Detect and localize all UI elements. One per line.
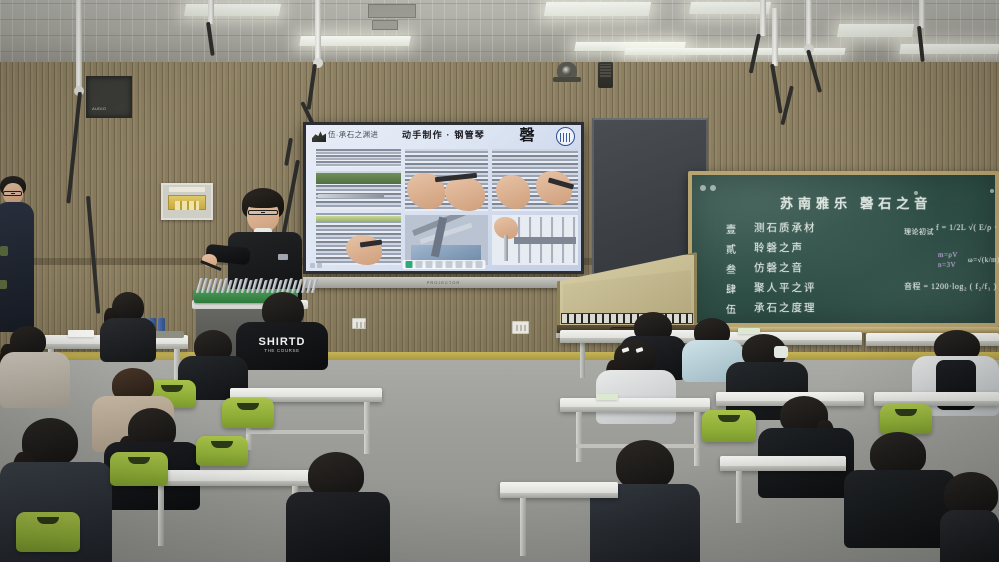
board-item: 聚人平之评 xyxy=(754,280,817,295)
board-item: 测石质承材 xyxy=(754,220,817,235)
panel-top-cap xyxy=(169,187,205,192)
desk xyxy=(500,482,618,498)
air-vent xyxy=(368,4,416,18)
photo-pipe-cutting-hands xyxy=(405,149,488,211)
desk xyxy=(720,456,846,471)
pipe-chime-bars xyxy=(198,277,316,293)
worksheet[interactable] xyxy=(596,394,618,400)
observer-coat xyxy=(0,202,34,332)
desk-leg xyxy=(736,471,742,523)
student-hair xyxy=(616,440,674,490)
board-clip xyxy=(700,185,706,191)
board-item: 聆磬之声 xyxy=(754,240,804,255)
air-vent xyxy=(372,20,398,30)
ptz-camera xyxy=(557,62,585,84)
board-item: 仿磬之音 xyxy=(754,260,804,275)
more-icon[interactable] xyxy=(475,261,482,268)
chair[interactable] xyxy=(702,410,756,442)
board-item: 承石之度理 xyxy=(754,300,817,315)
desk-rail xyxy=(246,430,368,434)
photo-pipe-ruler-marking xyxy=(316,213,401,265)
board-formula-bottom: 音程 = 1200·log₂ ( f₂/f₁ ) xyxy=(904,281,997,292)
desk-leg xyxy=(576,412,582,462)
rack-support-bar xyxy=(514,237,576,244)
page-indicator-icon xyxy=(317,263,322,268)
prev-icon[interactable] xyxy=(415,261,422,268)
board-title: 苏南雅乐 磬石之音 xyxy=(780,193,932,212)
student-jacket xyxy=(0,352,70,408)
panel-face xyxy=(168,195,206,210)
teacher-hair-front xyxy=(244,192,282,208)
board-annotation-label: 理论初试 xyxy=(904,227,934,237)
ceiling-light-panel xyxy=(899,44,999,54)
blackboard[interactable]: 苏南雅乐 磬石之音 壹 测石质承材 貳 聆磬之声 叁 仿磬之音 肆 聚人平之评 … xyxy=(688,171,999,327)
slide-breadcrumb: 伍·承石之渊进 xyxy=(328,129,378,140)
board-number: 壹 xyxy=(726,221,737,236)
standing-observer xyxy=(0,176,42,346)
student-jacket xyxy=(286,492,390,562)
slide-toolbar[interactable] xyxy=(402,260,485,269)
photo-pipe-green-rack xyxy=(316,171,401,209)
chair-backrest-slot xyxy=(211,441,233,448)
coat-patch xyxy=(0,280,7,289)
jacket-subtext: THE COURSE xyxy=(236,348,328,353)
chair[interactable] xyxy=(110,452,168,486)
projector-screen[interactable]: 伍·承石之渊进 动手制作 · 钢管琴 磬 xyxy=(303,122,584,274)
desk-leg xyxy=(364,402,370,454)
photo-workshop-tools xyxy=(405,215,488,265)
eraser-icon[interactable] xyxy=(445,261,452,268)
brush-calligraphy-mark: 磬 xyxy=(507,126,547,146)
slide-title: 动手制作 · 钢管琴 xyxy=(402,128,485,141)
board-number: 叁 xyxy=(726,261,737,276)
ceiling xyxy=(0,0,999,68)
desk-leg xyxy=(520,498,526,556)
chair-backrest-slot xyxy=(237,403,259,410)
board-formula-sub-left: m=ρV xyxy=(938,251,958,259)
wall-power-socket[interactable] xyxy=(352,318,366,329)
leaf-icon xyxy=(312,129,326,142)
student-jacket xyxy=(100,318,156,362)
pipe-texture xyxy=(316,149,401,167)
wall-power-socket[interactable] xyxy=(512,321,529,334)
student xyxy=(590,440,700,562)
teacher-glasses xyxy=(248,210,278,215)
ceiling-light-panel xyxy=(689,2,771,14)
jacket-text: SHIRTD xyxy=(236,336,328,348)
grid-icon[interactable] xyxy=(465,261,472,268)
classroom-scene: AUDIO 伍·承石之渊进 动手制作 · 钢管琴 磬 xyxy=(0,0,999,562)
chair[interactable] xyxy=(196,436,248,466)
tool-rod xyxy=(504,235,508,261)
board-clip xyxy=(710,185,716,191)
ceiling-light-panel xyxy=(184,4,281,16)
chair-backrest-slot xyxy=(718,415,740,422)
board-formula-sub-right: ω=√(k/m) (不变) xyxy=(968,255,999,265)
photo-pipe-marking-hands xyxy=(492,149,578,211)
observer-glasses xyxy=(3,191,22,196)
tool-rod xyxy=(318,194,384,198)
speaker-grill xyxy=(600,64,611,78)
measure-tape xyxy=(316,216,401,221)
desk xyxy=(560,398,710,412)
wall-speaker: AUDIO xyxy=(86,76,132,118)
teacher-badge xyxy=(278,254,288,260)
board-clip xyxy=(990,189,994,193)
school-crest-icon xyxy=(556,127,575,146)
slide-content: 伍·承石之渊进 动手制作 · 钢管琴 磬 xyxy=(306,125,581,271)
ceiling-light-panel xyxy=(837,24,914,37)
projector-brand-label: PROJECTOR xyxy=(427,280,461,285)
speaker-label: AUDIO xyxy=(92,106,106,111)
coat-patch xyxy=(0,246,8,256)
student xyxy=(758,396,854,492)
board-number: 肆 xyxy=(726,281,737,296)
board-number: 伍 xyxy=(726,301,737,316)
student xyxy=(286,452,390,562)
pen-icon[interactable] xyxy=(435,261,442,268)
next-icon[interactable] xyxy=(425,261,432,268)
desk-edge xyxy=(500,493,618,498)
board-number: 貳 xyxy=(726,241,737,256)
wall-speaker xyxy=(598,62,613,88)
slide-header: 伍·承石之渊进 动手制作 · 钢管琴 磬 xyxy=(306,125,581,147)
projector-bezel: PROJECTOR xyxy=(303,277,584,288)
student xyxy=(0,326,72,404)
desk-leg xyxy=(158,486,164,546)
camera-lens-icon xyxy=(562,66,572,76)
green-base-band xyxy=(316,173,401,184)
student xyxy=(98,292,156,358)
chair-backrest-slot xyxy=(128,457,150,464)
camera-base xyxy=(553,77,581,82)
chair[interactable] xyxy=(880,404,932,434)
white-collar xyxy=(774,346,788,358)
ceiling-light-panel xyxy=(544,2,651,16)
board-formula-sub-left2: n=3V xyxy=(938,261,956,269)
chair-backrest-slot xyxy=(895,409,917,416)
play-icon[interactable] xyxy=(405,261,412,268)
photo-pipe-measuring xyxy=(316,149,401,167)
chair-backrest-slot xyxy=(37,517,59,524)
board-formula-main: f = 1/2L √( E/ρ · t ) xyxy=(936,223,999,232)
chair[interactable] xyxy=(222,398,274,428)
student xyxy=(940,472,999,562)
laser-icon[interactable] xyxy=(455,261,462,268)
desk-edge xyxy=(560,407,710,412)
student-jacket xyxy=(940,510,999,562)
chair[interactable] xyxy=(16,512,80,552)
student: SHIRTD THE COURSE xyxy=(236,292,328,362)
breaker-switches[interactable] xyxy=(175,201,199,210)
